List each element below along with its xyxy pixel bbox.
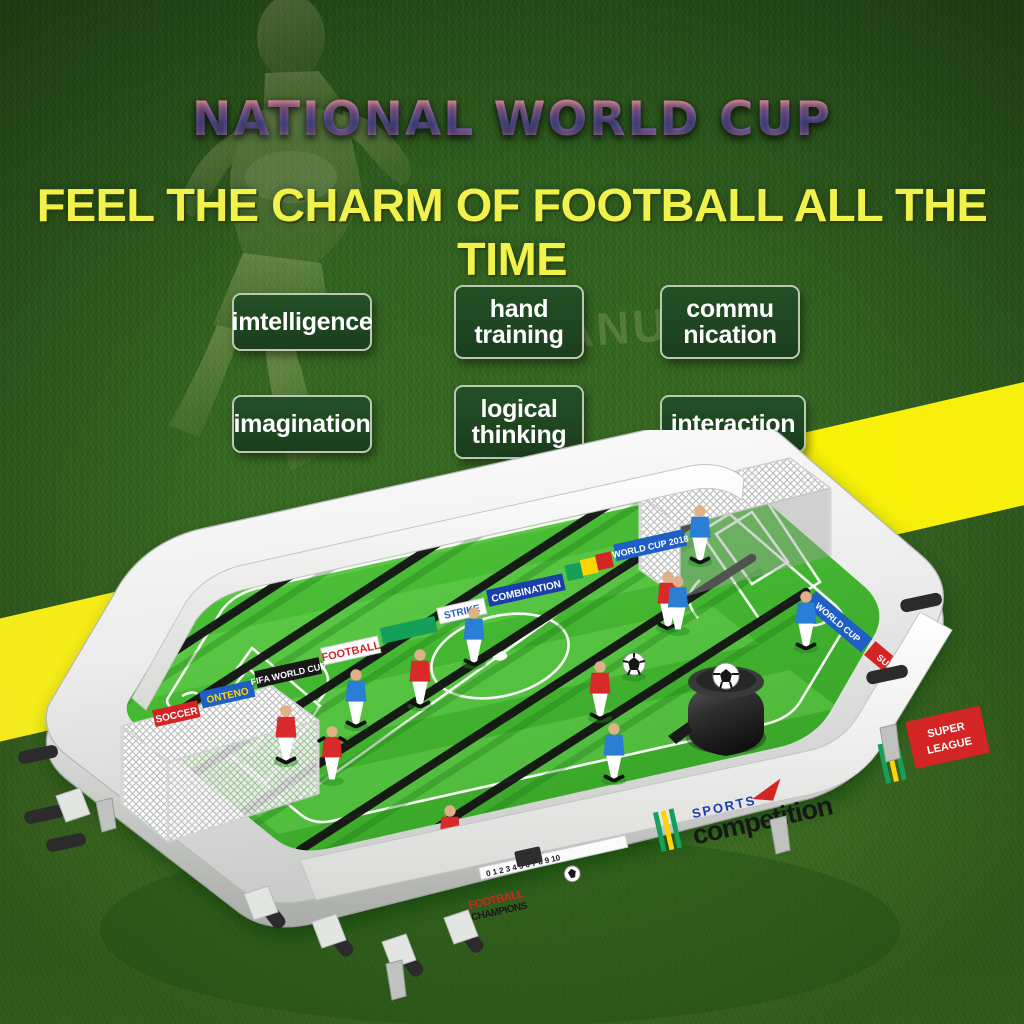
page-title: NATIONAL WORLD CUP: [0, 92, 1024, 147]
leg-left: [96, 798, 116, 832]
front-rail-panel-super-league: SUPER LEAGUE: [905, 706, 990, 769]
feature-badge-communication[interactable]: communication: [660, 285, 800, 359]
banner-stage: ANUT NATIONAL WORLD CUP FEEL THE CHARM O…: [0, 0, 1024, 1024]
product-image-table-football: SOCCER ONTENO FIFA WORLD CUP FOOTBALL: [0, 430, 1024, 1024]
leg-front-right: [770, 816, 790, 854]
soccer-ball: [622, 653, 646, 682]
rod-handle: [23, 804, 65, 825]
feature-badge-hand-training[interactable]: handtraining: [454, 285, 584, 359]
rod-handle: [45, 832, 87, 853]
feature-badge-imtelligence[interactable]: imtelligence: [232, 293, 372, 351]
page-subtitle: FEEL THE CHARM OF FOOTBALL ALL THE TIME: [0, 178, 1024, 286]
